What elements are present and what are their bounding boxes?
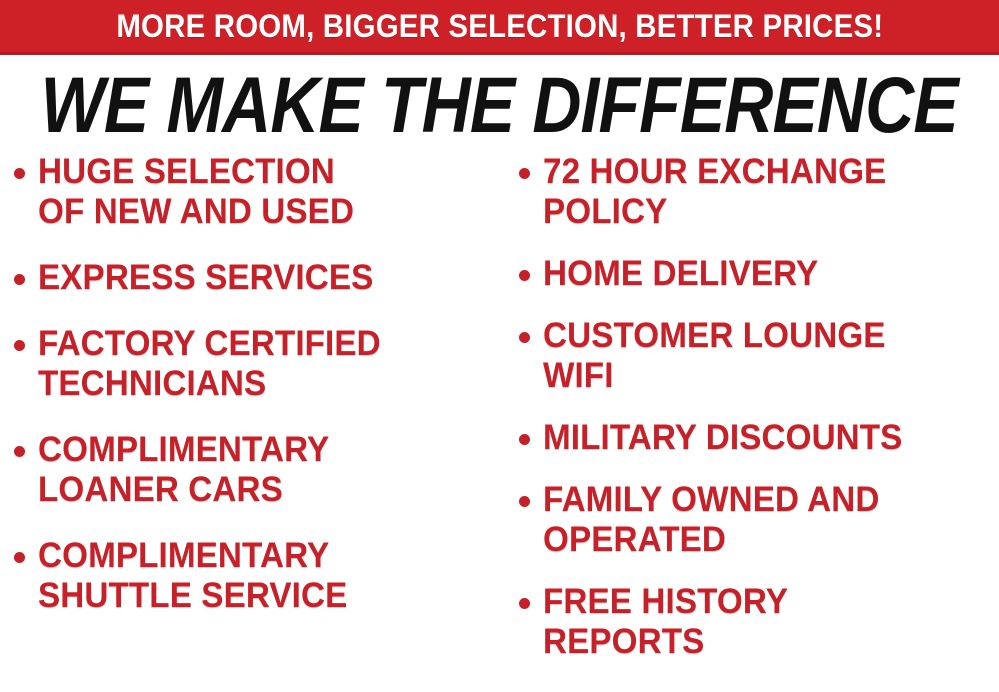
list-item: EXPRESS SERVICES <box>14 258 505 298</box>
list-item-label: COMPLIMENTARY SHUTTLE SERVICE <box>38 536 347 616</box>
list-item: COMPLIMENTARY LOANER CARS <box>14 430 505 510</box>
benefits-column-right: 72 HOUR EXCHANGE POLICY HOME DELIVERY CU… <box>505 152 999 692</box>
list-item-label: FAMILY OWNED AND OPERATED <box>543 480 880 560</box>
list-item-label: FACTORY CERTIFIED TECHNICIANS <box>38 324 381 404</box>
bullet-dot-icon <box>14 340 25 351</box>
list-item-label: FREE HISTORY REPORTS <box>543 582 788 662</box>
bullet-dot-icon <box>519 332 530 343</box>
list-item: HUGE SELECTION OF NEW AND USED <box>14 152 505 232</box>
bullet-dot-icon <box>14 274 25 285</box>
list-item: 72 HOUR EXCHANGE POLICY <box>519 152 999 232</box>
bullet-dot-icon <box>14 168 25 179</box>
list-item: FACTORY CERTIFIED TECHNICIANS <box>14 324 505 404</box>
bullet-dot-icon <box>14 446 25 457</box>
promo-poster: MORE ROOM, BIGGER SELECTION, BETTER PRIC… <box>0 0 999 692</box>
list-item-label: COMPLIMENTARY LOANER CARS <box>38 430 329 510</box>
list-item-label: HOME DELIVERY <box>543 254 818 294</box>
list-item-label: 72 HOUR EXCHANGE POLICY <box>543 152 886 232</box>
bullet-dot-icon <box>519 598 530 609</box>
top-banner: MORE ROOM, BIGGER SELECTION, BETTER PRIC… <box>0 0 999 55</box>
bullet-dot-icon <box>519 496 530 507</box>
list-item: COMPLIMENTARY SHUTTLE SERVICE <box>14 536 505 616</box>
bullet-dot-icon <box>14 552 25 563</box>
banner-headline: MORE ROOM, BIGGER SELECTION, BETTER PRIC… <box>116 10 883 42</box>
list-item-label: EXPRESS SERVICES <box>38 258 373 298</box>
headline-container: WE MAKE THE DIFFERENCE <box>0 62 999 146</box>
bullet-dot-icon <box>519 270 530 281</box>
list-item-label: CUSTOMER LOUNGE WIFI <box>543 316 886 396</box>
list-item-label: MILITARY DISCOUNTS <box>543 418 902 458</box>
list-item: FREE HISTORY REPORTS <box>519 582 999 662</box>
list-item: FAMILY OWNED AND OPERATED <box>519 480 999 560</box>
list-item: MILITARY DISCOUNTS <box>519 418 999 458</box>
benefits-column-left: HUGE SELECTION OF NEW AND USED EXPRESS S… <box>0 152 505 692</box>
bullet-dot-icon <box>519 434 530 445</box>
benefits-columns: HUGE SELECTION OF NEW AND USED EXPRESS S… <box>0 152 999 692</box>
list-item: HOME DELIVERY <box>519 254 999 294</box>
list-item: CUSTOMER LOUNGE WIFI <box>519 316 999 396</box>
bullet-dot-icon <box>519 168 530 179</box>
page-title: WE MAKE THE DIFFERENCE <box>41 65 958 144</box>
list-item-label: HUGE SELECTION OF NEW AND USED <box>38 152 354 232</box>
